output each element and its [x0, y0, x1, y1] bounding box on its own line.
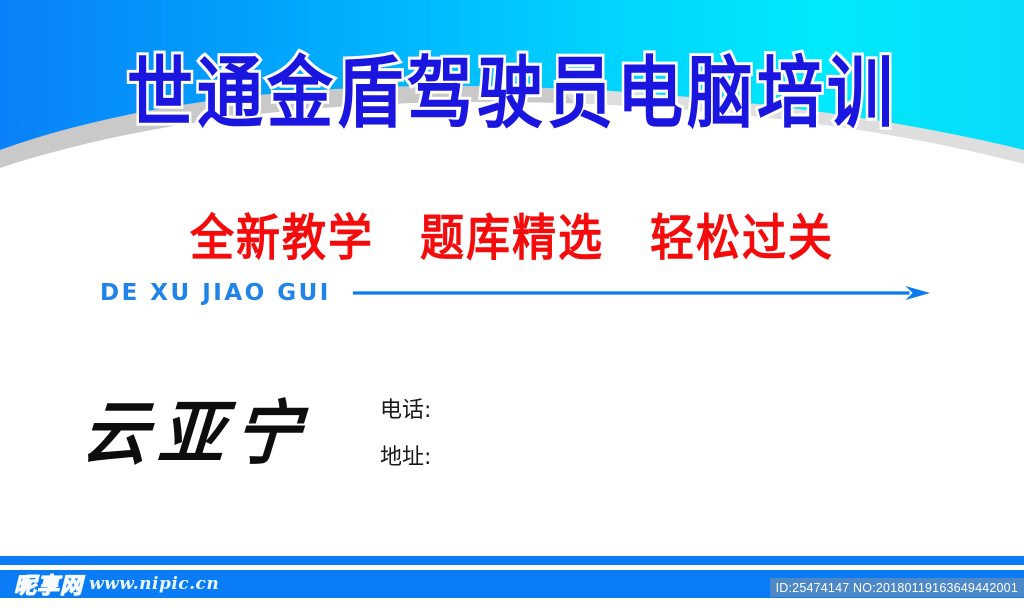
pinyin-arrow-row: DE XU JIAO GUI: [100, 276, 930, 310]
header-artwork: [0, 0, 1024, 190]
business-card-canvas: 世通金盾驾驶员电脑培训 全新教学 题库精选 轻松过关 DE XU JIAO GU…: [0, 0, 1024, 615]
arrow-right-icon: [353, 284, 930, 302]
person-name: 云亚宁: [80, 398, 313, 468]
footer-bar-thin: [0, 556, 1024, 565]
pinyin-text: DE XU JIAO GUI: [100, 280, 331, 306]
asset-id-badge: ID:25474147 NO:20180119163649442001: [770, 578, 1024, 597]
address-label: 地址:: [380, 447, 431, 469]
phone-label: 电话:: [380, 400, 431, 422]
contact-block: 电话: 地址:: [380, 400, 431, 469]
slogan-text: 全新教学 题库精选 轻松过关: [0, 198, 1024, 270]
